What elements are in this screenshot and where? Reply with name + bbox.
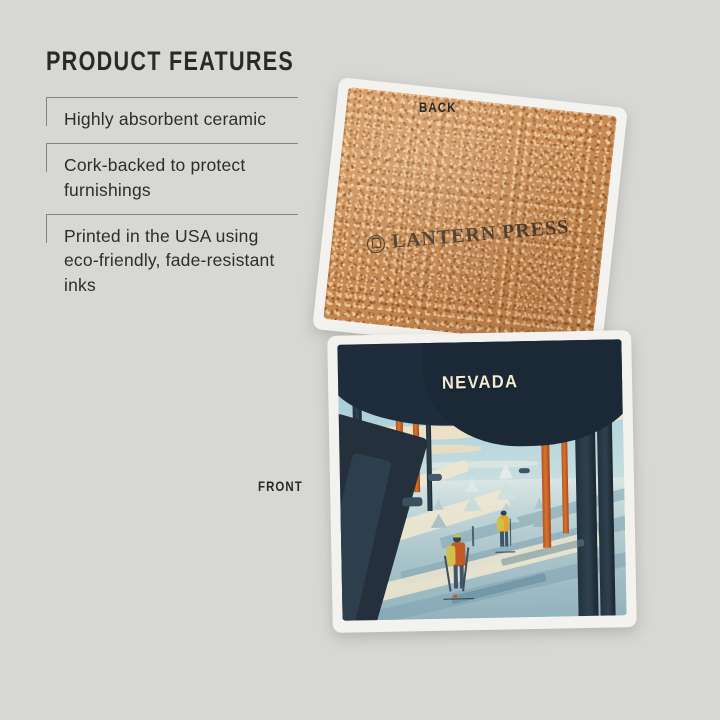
- product-image-stage: PRODUCT FEATURES Highly absorbent cerami…: [0, 0, 720, 720]
- rock-detail: [403, 497, 423, 506]
- cork-surface: LANTERN PRESS: [323, 87, 617, 348]
- lantern-icon: [366, 234, 385, 253]
- feature-text: Printed in the USA using eco-friendly, f…: [64, 224, 298, 299]
- callout-label-front: FRONT: [258, 478, 303, 494]
- lantern-press-logo: LANTERN PRESS: [366, 216, 570, 256]
- page-title: PRODUCT FEATURES: [46, 48, 248, 75]
- skier-figure: [494, 513, 515, 552]
- coaster-back: LANTERN PRESS: [312, 77, 628, 360]
- product-features-panel: PRODUCT FEATURES Highly absorbent cerami…: [46, 48, 298, 309]
- feature-text: Highly absorbent ceramic: [64, 107, 298, 132]
- coaster-front: NEVADA: [327, 330, 637, 633]
- feature-list-item: Cork-backed to protect furnishings: [46, 143, 298, 214]
- feature-tick-mark: [46, 98, 47, 126]
- feature-tick-mark: [46, 144, 47, 172]
- pine-tree: [456, 477, 489, 547]
- feature-list-item: Highly absorbent ceramic: [46, 97, 298, 143]
- callout-label-back: BACK: [419, 99, 456, 115]
- rock-detail: [428, 474, 442, 481]
- brand-name: LANTERN PRESS: [391, 216, 570, 254]
- feature-text: Cork-backed to protect furnishings: [64, 153, 298, 203]
- feature-tick-mark: [46, 215, 47, 243]
- artwork-surface: NEVADA: [337, 339, 626, 620]
- skier-figure: [443, 538, 472, 596]
- feature-list-item: Printed in the USA using eco-friendly, f…: [46, 214, 298, 310]
